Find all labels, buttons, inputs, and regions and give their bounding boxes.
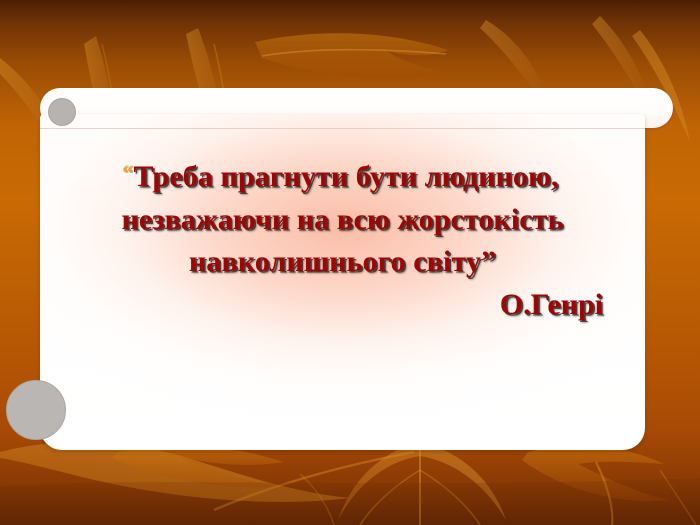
open-quote-icon: “ [122,160,133,185]
quote-line-3: навколишнього світу” [40,241,645,284]
quote-attribution: О.Генрі [40,284,645,327]
quote-line-1-text: Треба прагнути бути людиною, [133,160,558,193]
header-divider [40,128,645,129]
card-body-surface: “Треба прагнути бути людиною, незважаючи… [40,114,645,450]
slide-canvas: “Треба прагнути бути людиною, незважаючи… [0,0,700,525]
card-body-panel: “Треба прагнути бути людиною, незважаючи… [40,114,645,450]
quote-line-2-text: незважаючи на всю жорстокість [122,203,564,236]
corner-ornament-bottom-left-icon [6,380,66,440]
close-quote-icon: ” [481,245,496,278]
quote-line-1: “Треба прагнути бути людиною, [40,156,645,199]
quote-line-3-text: навколишнього світу [189,245,481,278]
content-card: “Треба прагнути бути людиною, незважаючи… [40,88,675,450]
corner-ornament-top-left-icon [48,98,76,126]
quote-line-2: незважаючи на всю жорстокість [40,199,645,242]
quote-block: “Треба прагнути бути людиною, незважаючи… [40,156,645,326]
